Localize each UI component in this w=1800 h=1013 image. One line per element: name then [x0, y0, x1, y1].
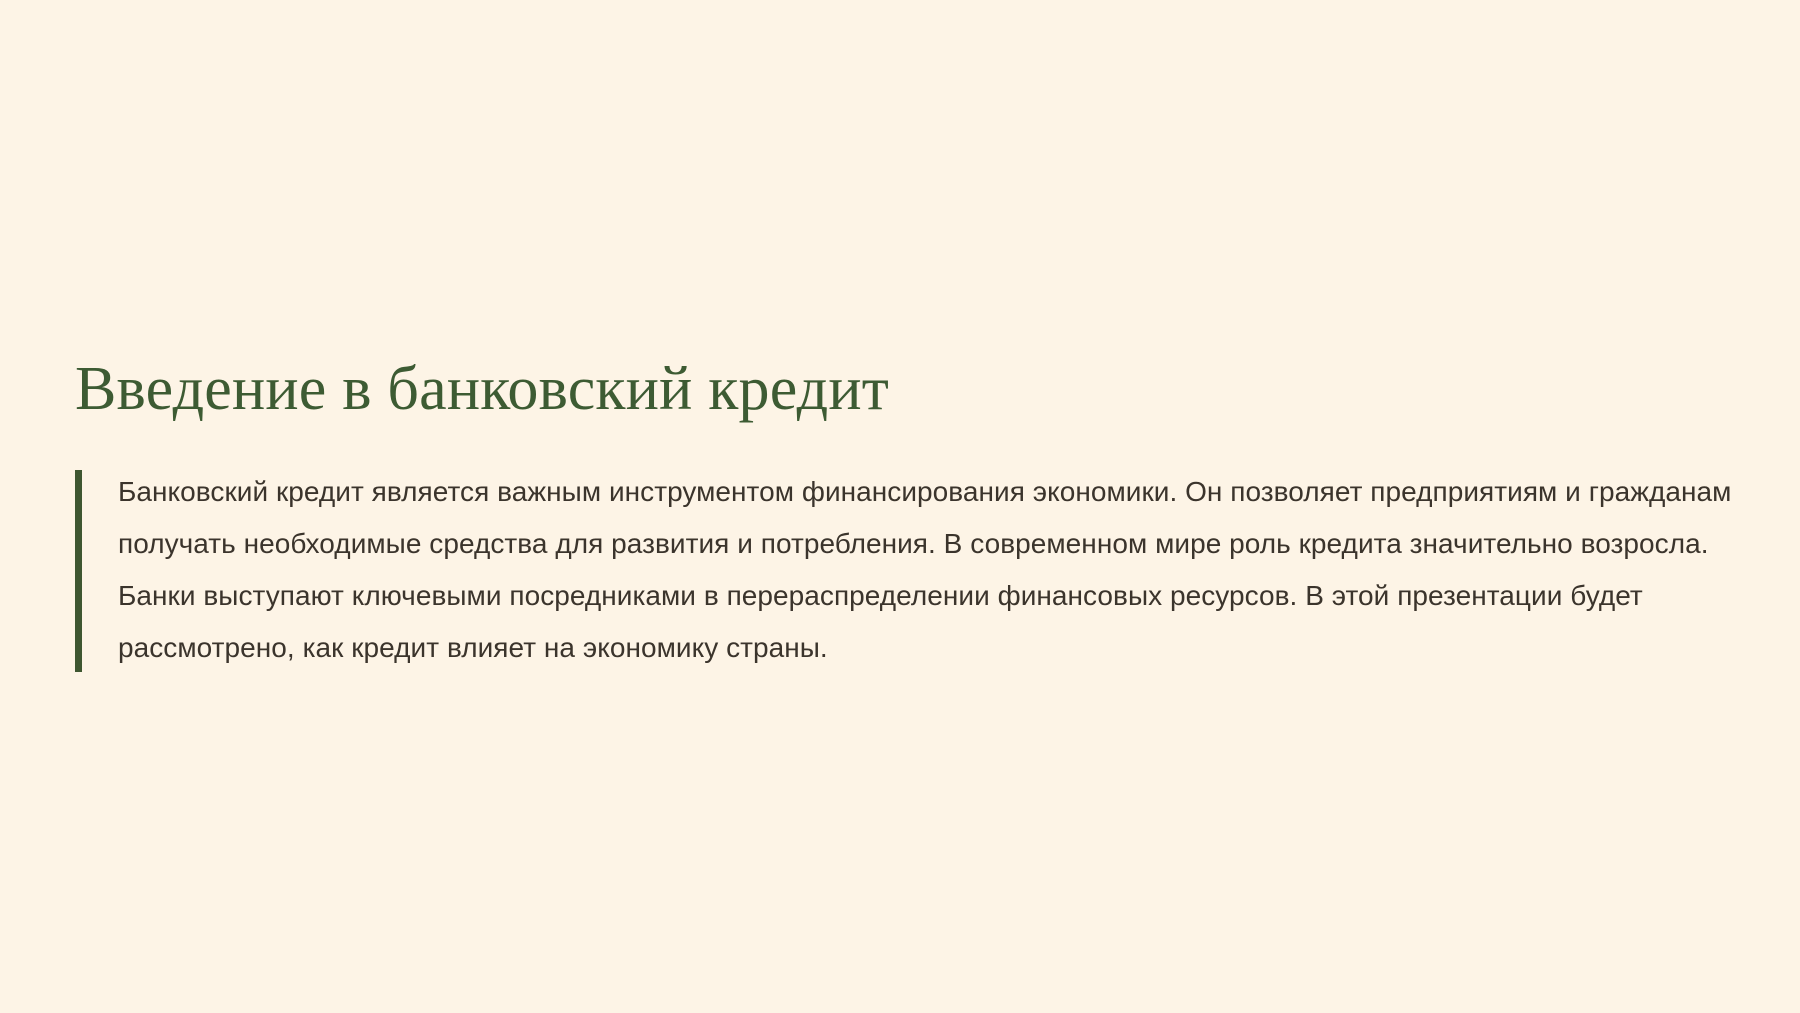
- body-paragraph: Банковский кредит является важным инстру…: [118, 466, 1735, 674]
- accent-bar: [75, 470, 82, 672]
- presentation-slide: Введение в банковский кредит Банковский …: [0, 0, 1800, 1013]
- page-title: Введение в банковский кредит: [75, 355, 1735, 424]
- body-block: Банковский кредит является важным инстру…: [75, 466, 1735, 674]
- slide-content: Введение в банковский кредит Банковский …: [75, 355, 1735, 674]
